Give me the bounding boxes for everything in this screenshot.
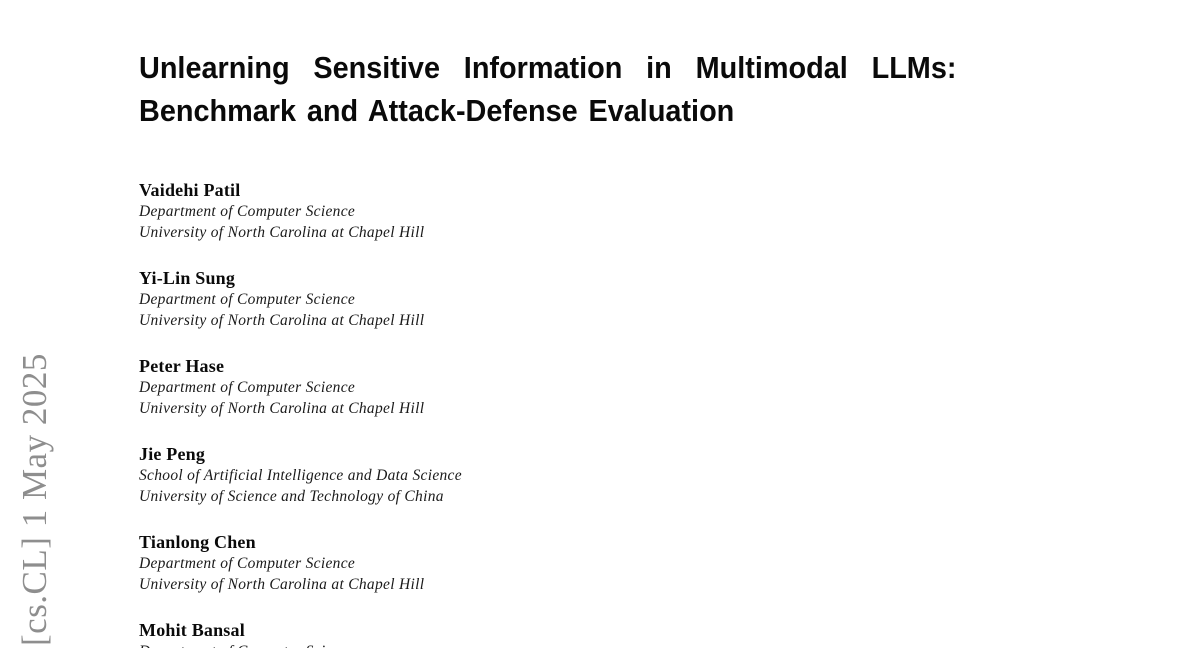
paper-page: [cs.CL] 1 May 2025 Unlearning Sensitive … (0, 0, 1200, 648)
author-name: Vaidehi Patil (139, 179, 839, 201)
author-block: Mohit Bansal Department of Computer Scie… (139, 619, 839, 648)
author-block: Vaidehi Patil Department of Computer Sci… (139, 179, 839, 243)
author-affiliation-line: University of North Carolina at Chapel H… (139, 398, 839, 419)
author-block: Jie Peng School of Artificial Intelligen… (139, 443, 839, 507)
author-affiliation-line: Department of Computer Science (139, 377, 839, 398)
author-affiliation-line: Department of Computer Science (139, 289, 839, 310)
author-block: Yi-Lin Sung Department of Computer Scien… (139, 267, 839, 331)
arxiv-stamp-label: [cs.CL] 1 May 2025 (17, 353, 56, 648)
author-affiliation-line: University of North Carolina at Chapel H… (139, 574, 839, 595)
title-line-2: Benchmark and Attack-Defense Evaluation (139, 89, 996, 132)
author-affiliation-line: University of Science and Technology of … (139, 486, 839, 507)
author-affiliation-line: School of Artificial Intelligence and Da… (139, 465, 839, 486)
author-name: Jie Peng (139, 443, 839, 465)
title-line-1: Unlearning Sensitive Information in Mult… (139, 46, 996, 89)
author-block: Peter Hase Department of Computer Scienc… (139, 355, 839, 419)
author-name: Mohit Bansal (139, 619, 839, 641)
page-title: Unlearning Sensitive Information in Mult… (139, 46, 1061, 132)
author-affiliation-line: University of North Carolina at Chapel H… (139, 222, 839, 243)
author-affiliation-line: Department of Computer Science (139, 553, 839, 574)
arxiv-stamp: [cs.CL] 1 May 2025 (0, 0, 72, 648)
author-list: Vaidehi Patil Department of Computer Sci… (139, 179, 839, 648)
author-affiliation-line: Department of Computer Science (139, 201, 839, 222)
author-name: Yi-Lin Sung (139, 267, 839, 289)
author-name: Tianlong Chen (139, 531, 839, 553)
author-affiliation-line: University of North Carolina at Chapel H… (139, 310, 839, 331)
author-affiliation-line: Department of Computer Science (139, 641, 839, 648)
author-block: Tianlong Chen Department of Computer Sci… (139, 531, 839, 595)
author-name: Peter Hase (139, 355, 839, 377)
